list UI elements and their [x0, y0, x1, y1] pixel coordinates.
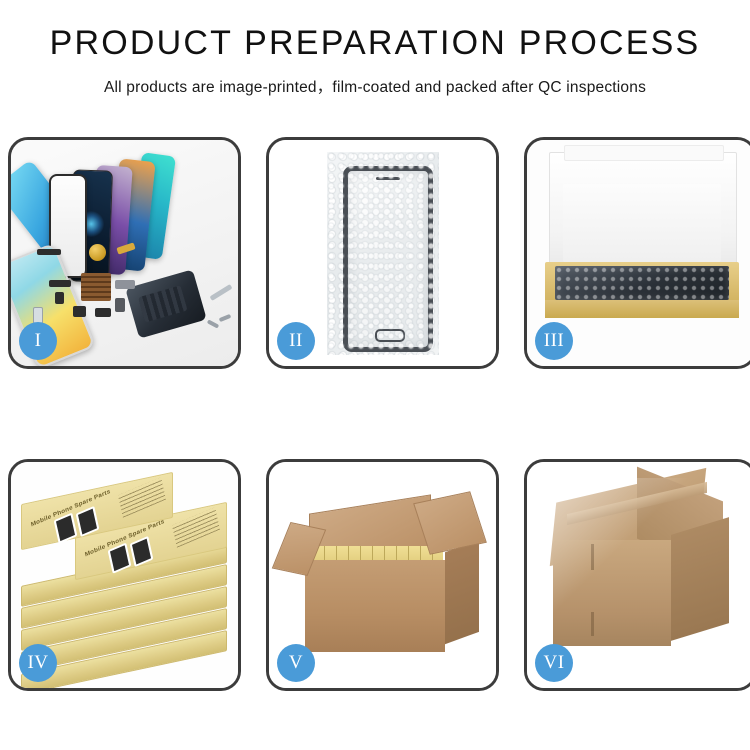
process-step-5[interactable]: V	[266, 459, 499, 691]
step-badge-1: I	[19, 322, 57, 360]
page-subtitle: All products are image-printed，film-coat…	[0, 75, 750, 97]
page-header: PRODUCT PREPARATION PROCESS All products…	[0, 0, 750, 97]
metal-bracket-part	[115, 280, 135, 289]
page-title: PRODUCT PREPARATION PROCESS	[0, 26, 750, 62]
flex-cable-part	[37, 249, 61, 255]
box-thumbnail-2	[76, 506, 100, 537]
inner-box-tray	[545, 262, 739, 318]
screw-part-1	[207, 319, 219, 328]
carton-seam-top	[591, 544, 594, 570]
step-badge-3: III	[535, 322, 573, 360]
phone-chassis-part	[125, 269, 207, 338]
step-badge-5: V	[277, 644, 315, 682]
step-badge-6: VI	[535, 644, 573, 682]
button-part	[73, 306, 86, 317]
sealed-carton-right	[671, 517, 729, 641]
box-thumbnail-4	[130, 536, 154, 567]
camera-module-part	[95, 308, 111, 317]
sealed-carton-front	[553, 540, 671, 646]
small-connector-part	[55, 292, 64, 304]
wrapped-screen-in-box	[555, 266, 729, 300]
carton-seam-bottom	[591, 612, 594, 636]
bubble-overlay	[327, 152, 439, 355]
process-step-1[interactable]: I	[8, 137, 241, 369]
carton-front	[305, 560, 445, 652]
process-step-4[interactable]: Mobile Phone Spare Parts Mobile Phone Sp…	[8, 459, 241, 691]
tweezers-tool	[209, 284, 232, 301]
carton-side	[445, 540, 479, 644]
process-step-3[interactable]: III	[524, 137, 750, 369]
bubble-wrap-sheet	[327, 152, 439, 355]
ribbon-cable-part	[49, 280, 71, 287]
step-badge-2: II	[277, 322, 315, 360]
step-badge-4: IV	[19, 644, 57, 682]
box-label-text-1: Mobile Phone Spare Parts	[30, 484, 121, 529]
foam-padding	[563, 184, 721, 262]
process-step-grid: I II III	[8, 137, 742, 691]
box-spec-lines-2	[172, 507, 220, 548]
process-step-2[interactable]: II	[266, 137, 499, 369]
speaker-part	[115, 298, 125, 312]
box-front-edge	[545, 300, 739, 318]
screw-part-2	[219, 314, 232, 322]
process-step-6[interactable]: VI	[524, 459, 750, 691]
box-spec-lines-1	[118, 477, 166, 518]
connector-grid-part	[81, 273, 111, 301]
copper-coil-part	[89, 244, 106, 261]
